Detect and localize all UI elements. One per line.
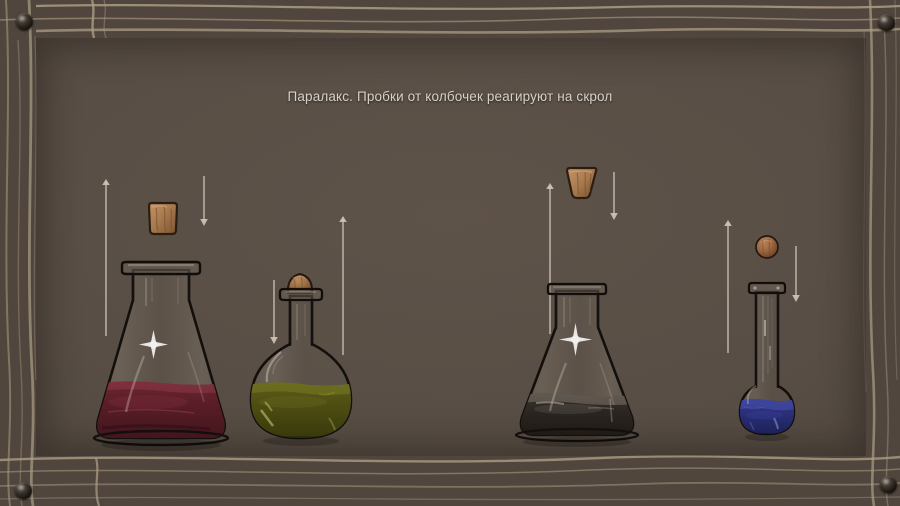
frame-top-edge — [0, 0, 900, 38]
round-bottom-flask-4[interactable] — [736, 278, 800, 446]
rivet-top-left — [16, 13, 33, 30]
arrow-up-flask-4 — [721, 217, 735, 357]
parallax-scene: Паралакс. Пробки от колбочек реагируют н… — [0, 0, 900, 506]
rivet-bottom-left — [15, 482, 32, 499]
arrow-down-flask-3 — [607, 168, 621, 224]
erlenmeyer-flask-1[interactable] — [86, 252, 236, 457]
rivet-bottom-right — [880, 476, 897, 493]
cork-trapezoid-flask-3[interactable] — [563, 166, 601, 204]
erlenmeyer-flask-3[interactable] — [506, 277, 646, 457]
arrow-down-flask-1 — [197, 172, 211, 230]
frame-bottom-edge — [0, 456, 900, 506]
cork-circle-flask-4[interactable] — [754, 234, 782, 262]
frame-right-edge — [866, 0, 900, 506]
florence-flask-2[interactable] — [243, 278, 359, 450]
page-title: Паралакс. Пробки от колбочек реагируют н… — [0, 89, 900, 104]
frame-left-edge — [0, 0, 36, 506]
cork-square-flask-1[interactable] — [145, 201, 183, 239]
rivet-top-right — [878, 14, 895, 31]
